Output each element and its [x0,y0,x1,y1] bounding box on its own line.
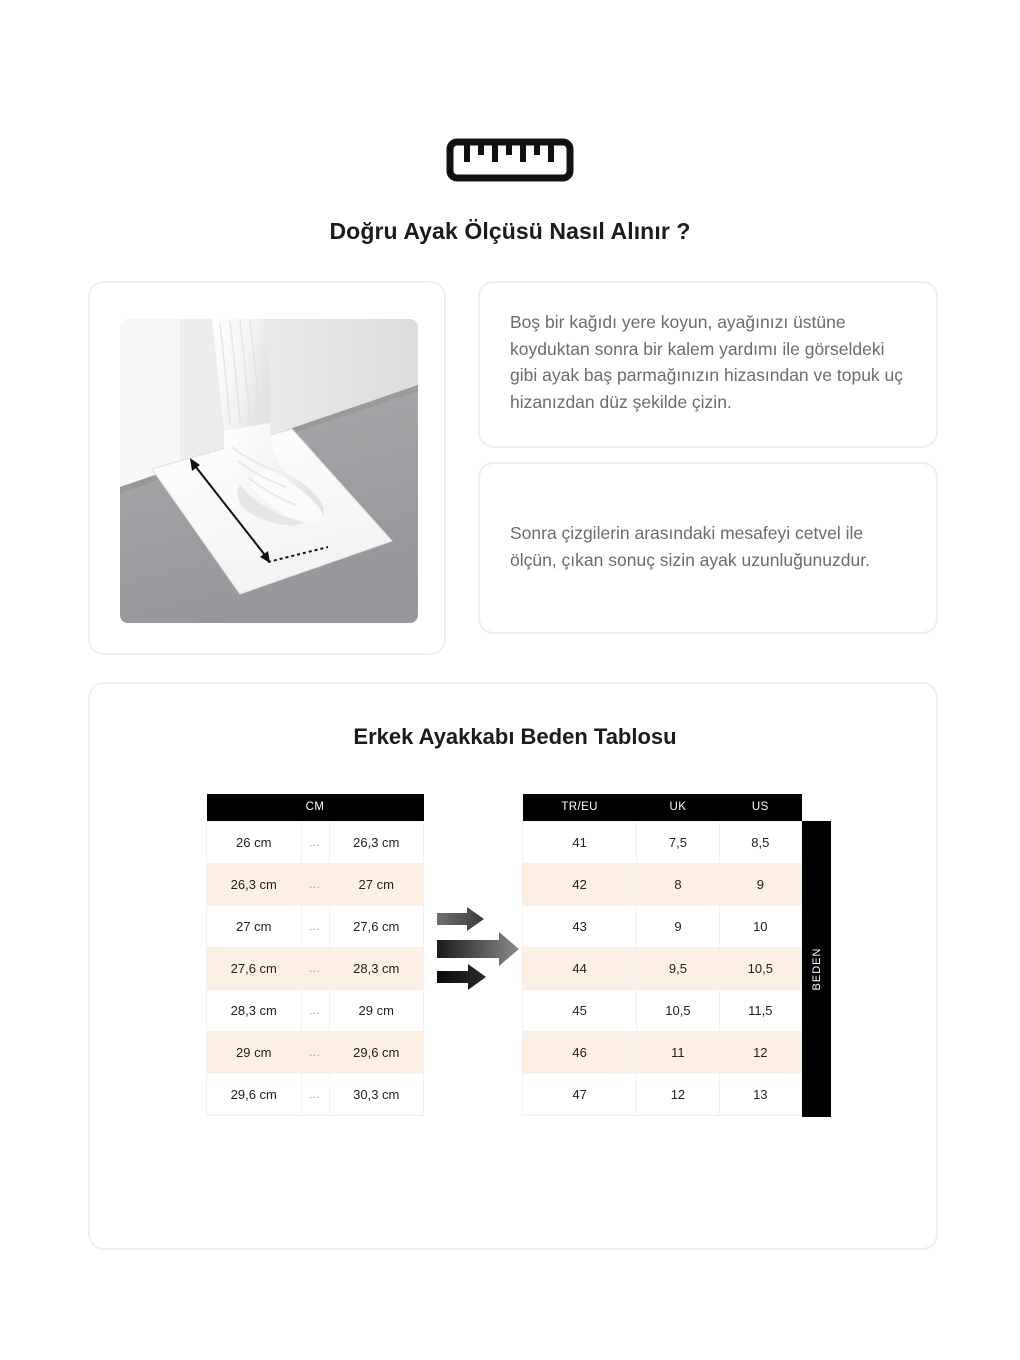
cm-to: 26,3 cm [329,821,424,863]
size-us: 13 [719,1073,801,1115]
size-us: 9 [719,863,801,905]
size-treu: 46 [523,1031,637,1073]
cm-table-header: CM [207,794,424,821]
size-chart-card: Erkek Ayakkabı Beden Tablosu CM 26 cm … … [88,682,938,1250]
cm-from: 28,3 cm [207,989,302,1031]
size-us: 10,5 [719,947,801,989]
size-treu: 41 [523,821,637,863]
cm-table-header-row: CM [207,794,424,821]
size-us: 12 [719,1031,801,1073]
cm-separator: … [301,863,329,905]
table-row: 43 9 10 [523,905,802,947]
page-title: Doğru Ayak Ölçüsü Nasıl Alınır ? [0,218,1020,245]
cm-to: 27 cm [329,863,424,905]
size-header-uk: UK [637,794,719,821]
ruler-icon [446,138,574,187]
size-uk: 9,5 [637,947,719,989]
size-treu: 45 [523,989,637,1031]
cm-separator: … [301,1073,329,1115]
instruction-text-2: Sonra çizgilerin arasındaki mesafeyi cet… [510,520,906,573]
size-us: 10 [719,905,801,947]
size-uk: 11 [637,1031,719,1073]
size-table-body: 41 7,5 8,5 42 8 9 43 9 10 [523,821,802,1115]
cm-from: 26 cm [207,821,302,863]
table-row: 44 9,5 10,5 [523,947,802,989]
size-treu: 44 [523,947,637,989]
cm-from: 29 cm [207,1031,302,1073]
cm-from: 27,6 cm [207,947,302,989]
size-treu: 42 [523,863,637,905]
size-us: 8,5 [719,821,801,863]
cm-table-body: 26 cm … 26,3 cm 26,3 cm … 27 cm 27 cm … … [207,821,424,1115]
table-row: 26 cm … 26,3 cm [207,821,424,863]
table-row: 26,3 cm … 27 cm [207,863,424,905]
cm-table: CM 26 cm … 26,3 cm 26,3 cm … 27 cm [206,794,424,1116]
beden-side-bar: BEDEN [802,821,831,1117]
three-right-arrows-icon [435,907,521,992]
size-header-treu: TR/EU [523,794,637,821]
size-uk: 7,5 [637,821,719,863]
table-row: 46 11 12 [523,1031,802,1073]
cm-separator: … [301,989,329,1031]
size-chart-title: Erkek Ayakkabı Beden Tablosu [90,724,940,750]
instructions-column: Boş bir kağıdı yere koyun, ayağınızı üst… [478,281,938,634]
cm-from: 29,6 cm [207,1073,302,1115]
cm-to: 30,3 cm [329,1073,424,1115]
cm-from: 27 cm [207,905,302,947]
size-uk: 10,5 [637,989,719,1031]
cm-to: 29,6 cm [329,1031,424,1073]
table-row: 42 8 9 [523,863,802,905]
size-uk: 12 [637,1073,719,1115]
size-treu: 47 [523,1073,637,1115]
instruction-card-1: Boş bir kağıdı yere koyun, ayağınızı üst… [478,281,938,448]
cm-to: 27,6 cm [329,905,424,947]
instruction-card-2: Sonra çizgilerin arasındaki mesafeyi cet… [478,462,938,634]
size-us: 11,5 [719,989,801,1031]
table-row: 28,3 cm … 29 cm [207,989,424,1031]
table-row: 27,6 cm … 28,3 cm [207,947,424,989]
size-treu: 43 [523,905,637,947]
foot-measurement-photo [120,319,418,623]
instruction-text-1: Boş bir kağıdı yere koyun, ayağınızı üst… [510,309,906,415]
size-uk: 8 [637,863,719,905]
cm-to: 29 cm [329,989,424,1031]
table-row: 27 cm … 27,6 cm [207,905,424,947]
cm-separator: … [301,947,329,989]
cm-separator: … [301,905,329,947]
table-row: 29,6 cm … 30,3 cm [207,1073,424,1115]
beden-label: BEDEN [811,948,823,991]
cm-separator: … [301,1031,329,1073]
table-row: 41 7,5 8,5 [523,821,802,863]
cm-separator: … [301,821,329,863]
size-table: TR/EU UK US 41 7,5 8,5 42 8 9 [522,794,802,1116]
size-uk: 9 [637,905,719,947]
table-row: 47 12 13 [523,1073,802,1115]
table-row: 45 10,5 11,5 [523,989,802,1031]
size-table-header-row: TR/EU UK US [523,794,802,821]
cm-from: 26,3 cm [207,863,302,905]
size-guide-page: Doğru Ayak Ölçüsü Nasıl Alınır ? [0,0,1020,1360]
ruler-icon-container [0,138,1020,187]
foot-photo-card [88,281,446,655]
cm-to: 28,3 cm [329,947,424,989]
size-header-us: US [719,794,801,821]
table-row: 29 cm … 29,6 cm [207,1031,424,1073]
